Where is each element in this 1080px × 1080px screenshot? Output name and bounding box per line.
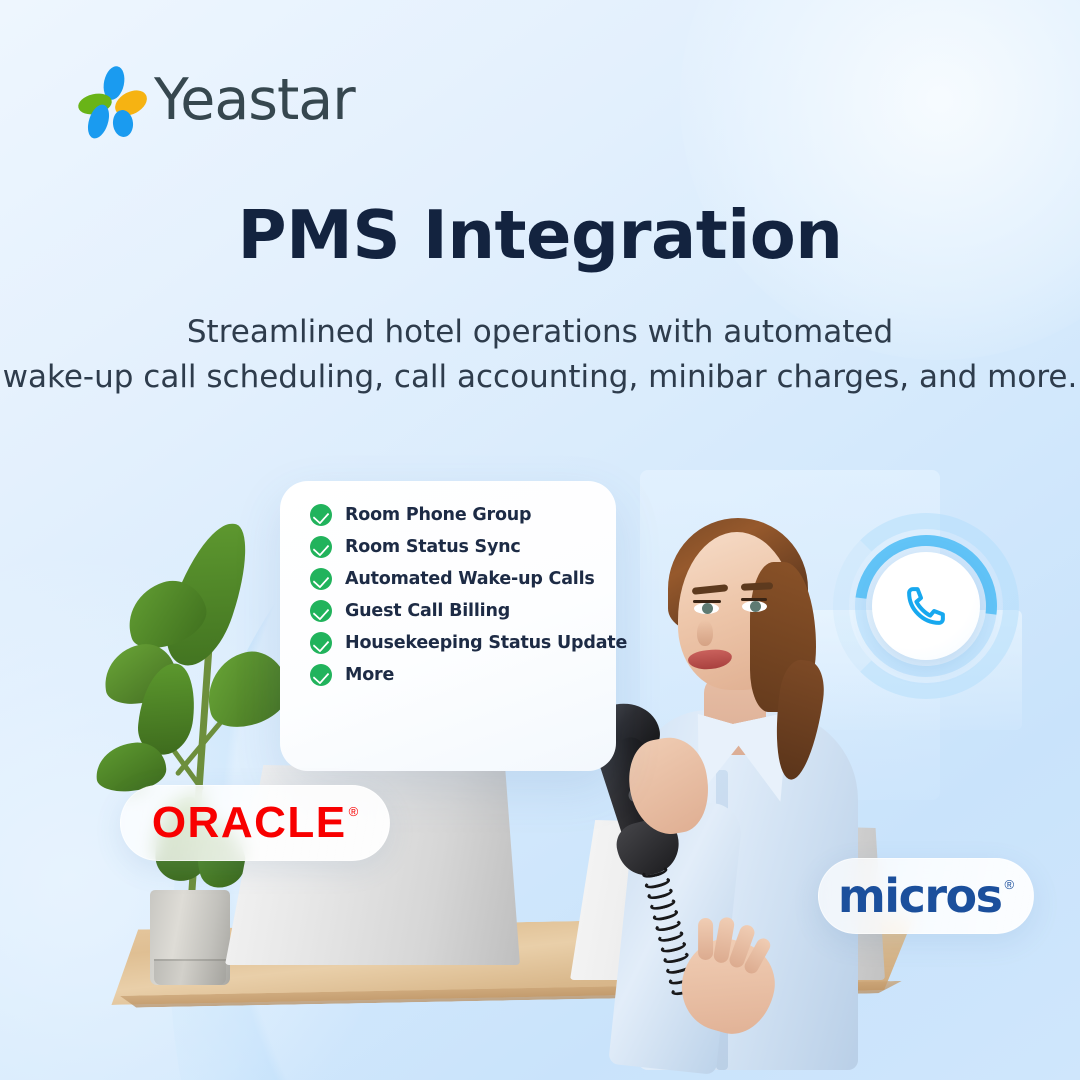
page-title: PMS Integration: [0, 196, 1080, 274]
oracle-registered-mark: ®: [349, 804, 359, 819]
check-circle-icon: [310, 664, 332, 686]
check-circle-icon: [310, 536, 332, 558]
feature-label: Housekeeping Status Update: [345, 633, 627, 653]
micros-wordmark: micros: [838, 873, 1002, 919]
badge-core: [872, 552, 980, 660]
feature-label: Automated Wake-up Calls: [345, 569, 595, 589]
oracle-logo: ORACLE ®: [152, 801, 358, 845]
feature-label: More: [345, 665, 394, 685]
yeastar-pinwheel-icon: [78, 66, 140, 130]
phone-badge[interactable]: [855, 535, 997, 677]
micros-registered-mark: ®: [1005, 877, 1015, 892]
feature-label: Room Phone Group: [345, 505, 531, 525]
check-circle-icon: [310, 504, 332, 526]
list-item[interactable]: Housekeeping Status Update: [310, 631, 606, 654]
page-subtitle: Streamlined hotel operations with automa…: [0, 310, 1080, 400]
list-item[interactable]: Automated Wake-up Calls: [310, 567, 606, 590]
person-nose: [697, 620, 713, 646]
phone-handset-icon: [903, 583, 949, 629]
plant-pot: [150, 890, 230, 985]
background-glow-top-right: [680, 0, 1080, 360]
feature-list: Room Phone Group Room Status Sync Automa…: [310, 503, 606, 686]
feature-label: Room Status Sync: [345, 537, 521, 557]
poster-canvas: Yeastar PMS Integration Streamlined hote…: [0, 0, 1080, 1080]
partner-badge-micros[interactable]: micros ®: [818, 858, 1034, 934]
feature-card: Room Phone Group Room Status Sync Automa…: [280, 481, 616, 771]
brand-logo[interactable]: Yeastar: [78, 62, 355, 134]
subtitle-line-1: Streamlined hotel operations with automa…: [0, 310, 1080, 355]
check-circle-icon: [310, 632, 332, 654]
person-eyelid-right: [741, 598, 767, 601]
list-item[interactable]: Guest Call Billing: [310, 599, 606, 622]
feature-label: Guest Call Billing: [345, 601, 510, 621]
list-item[interactable]: More: [310, 663, 606, 686]
list-item[interactable]: Room Phone Group: [310, 503, 606, 526]
check-circle-icon: [310, 568, 332, 590]
brand-name: Yeastar: [154, 72, 355, 129]
finger: [698, 918, 713, 960]
subtitle-line-2: wake-up call scheduling, call accounting…: [0, 355, 1080, 400]
receptionist-photo: [600, 470, 880, 1060]
person-eyelid-left: [693, 600, 721, 603]
person-eye-left: [694, 603, 719, 614]
check-circle-icon: [310, 600, 332, 622]
list-item[interactable]: Room Status Sync: [310, 535, 606, 558]
person-eye-right: [742, 601, 767, 612]
partner-badge-oracle[interactable]: ORACLE ®: [120, 785, 390, 861]
oracle-wordmark: ORACLE: [152, 801, 347, 845]
micros-logo: micros ®: [838, 873, 1014, 919]
